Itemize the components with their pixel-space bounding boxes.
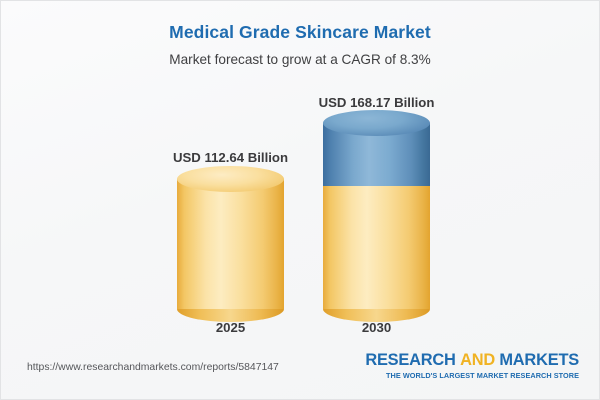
cylinder-segment-base xyxy=(323,186,430,309)
logo-tagline: THE WORLD'S LARGEST MARKET RESEARCH STOR… xyxy=(365,371,579,380)
cylinder-segment-growth xyxy=(323,123,430,186)
cylinder-body xyxy=(177,179,284,309)
cylinder-top-ellipse xyxy=(323,110,430,136)
category-label-2025: 2025 xyxy=(147,320,314,335)
cylinder-top-ellipse xyxy=(177,166,284,192)
logo-word-markets: MARKETS xyxy=(499,351,579,369)
footer: https://www.researchandmarkets.com/repor… xyxy=(1,344,600,399)
bar-chart: USD 112.64 Billion 2025 USD 168.17 Billi… xyxy=(1,1,600,346)
value-label-2025: USD 112.64 Billion xyxy=(117,150,344,165)
report-url[interactable]: https://www.researchandmarkets.com/repor… xyxy=(27,362,279,373)
cylinder-2025 xyxy=(177,179,284,309)
cylinder-2030 xyxy=(323,123,430,309)
logo-word-research: RESEARCH xyxy=(365,351,455,369)
logo-word-and: AND xyxy=(460,351,495,369)
cylinder-segment-base xyxy=(177,179,284,309)
category-label-2030: 2030 xyxy=(293,320,460,335)
infographic-card: Medical Grade Skincare Market Market for… xyxy=(0,0,600,400)
logo-wordmark: RESEARCH AND MARKETS xyxy=(365,352,579,369)
research-and-markets-logo[interactable]: RESEARCH AND MARKETS THE WORLD'S LARGEST… xyxy=(365,352,579,380)
value-label-2030: USD 168.17 Billion xyxy=(263,95,490,110)
cylinder-body xyxy=(323,186,430,309)
